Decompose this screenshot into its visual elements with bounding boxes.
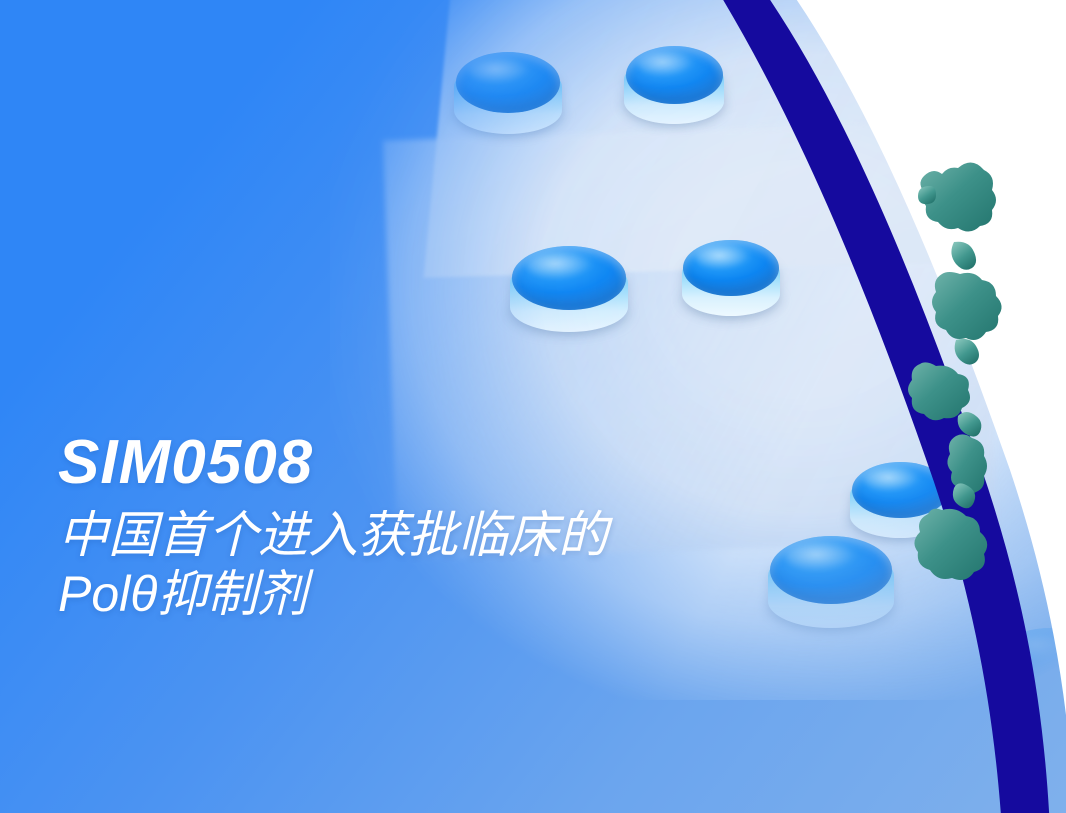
protein-domains (908, 162, 1002, 580)
poster-canvas: SIM0508 中国首个进入获批临床的 Polθ抑制剂 (0, 0, 1066, 813)
blue-tablet (682, 240, 780, 316)
tablet-gloss (1010, 635, 1066, 660)
tablet-gloss (638, 52, 696, 75)
protein-domain-5 (914, 509, 987, 580)
protein-linker-3 (958, 412, 982, 437)
product-code: SIM0508 (58, 432, 608, 494)
protein-arm-1 (918, 186, 936, 204)
blue-tablet (510, 246, 628, 332)
headline-block: SIM0508 中国首个进入获批临床的 Polθ抑制剂 (58, 432, 608, 624)
protein-domain-2 (932, 272, 1002, 340)
tablet-gloss (469, 59, 532, 84)
subtitle-line-2: Polθ抑制剂 (58, 565, 608, 624)
protein-linker-2 (955, 339, 979, 365)
blue-tablet (768, 536, 894, 628)
tablet-gloss (786, 543, 859, 571)
blue-tablet (994, 628, 1066, 712)
protein-domain-3 (908, 362, 970, 420)
protein-ribbon-structure (880, 150, 1066, 580)
protein-domain-4 (947, 434, 987, 494)
tablet-gloss (696, 246, 753, 269)
subtitle-line-1: 中国首个进入获批临床的 (58, 506, 608, 565)
blue-tablet (624, 46, 724, 124)
protein-linker-1 (951, 242, 976, 270)
tablet-gloss (527, 253, 595, 279)
blue-tablet (454, 52, 562, 134)
